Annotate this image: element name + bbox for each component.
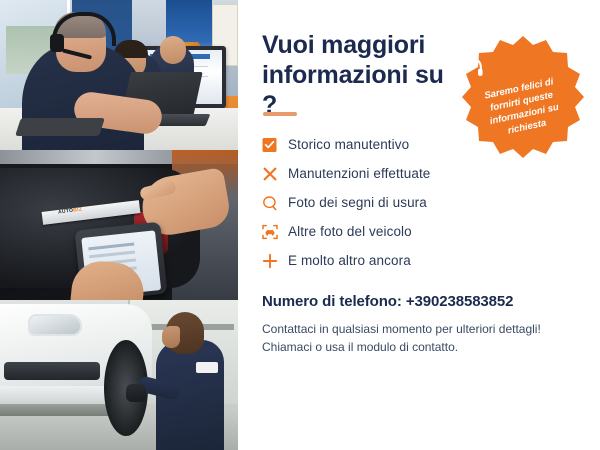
photo-mechanic-inspecting-white-car-wheel	[0, 300, 238, 450]
photo3-mechanic-face	[162, 326, 180, 348]
feature-item-manutenzioni-effettuate: Manutenzioni effettuate	[262, 159, 582, 188]
feature-label: Storico manutentivo	[288, 137, 409, 152]
title-divider	[263, 112, 297, 116]
contact-line-2: Chiamaci o usa il modulo di contatto.	[262, 338, 572, 356]
contact-instructions: Contattaci in qualsiasi momento per ulte…	[262, 320, 572, 356]
photo1-desk-mat	[15, 118, 105, 136]
feature-list: Storico manutentivo Manutenzioni effettu…	[262, 130, 582, 275]
feature-item-foto-segni-usura: Foto dei segni di usura	[262, 188, 582, 217]
feature-label: Manutenzioni effettuate	[288, 166, 430, 181]
content-panel: Vuoi maggiori informazioni su ? Saremo f…	[238, 0, 600, 450]
phone-number[interactable]: Numero di telefono: +390238583852	[262, 293, 513, 310]
feature-label: Foto dei segni di usura	[288, 195, 427, 210]
feature-item-altre-foto-veicolo: Altre foto del veicolo	[262, 217, 582, 246]
photo3-glove	[126, 384, 146, 402]
photo3-bumper	[0, 386, 120, 404]
photo-call-center-operator-headset	[0, 0, 238, 150]
contact-line-1: Contattaci in qualsiasi momento per ulte…	[262, 320, 572, 338]
feature-item-molto-altro-ancora: E molto altro ancora	[262, 246, 582, 275]
feature-label: Altre foto del veicolo	[288, 224, 412, 239]
photo3-headlight	[28, 314, 82, 336]
photo1-colleague-far-head	[160, 36, 186, 64]
photo3-grille	[4, 362, 100, 380]
photo3-shirt-badge	[196, 362, 218, 373]
feature-label: E molto altro ancora	[288, 253, 411, 268]
photo-column: AUTOBIZ	[0, 0, 238, 450]
feature-item-storico-manutentivo: Storico manutentivo	[262, 130, 582, 159]
search-bubble-icon	[262, 195, 288, 211]
car-focus-frame-icon	[262, 224, 288, 240]
promo-banner: AUTOBIZ	[0, 0, 600, 450]
clipboard-check-icon	[262, 137, 288, 153]
tools-cross-icon	[262, 166, 288, 182]
page-title: Vuoi maggiori informazioni su ?	[262, 30, 462, 120]
plus-icon	[262, 253, 288, 269]
photo-mechanic-inspecting-dark-car-tablet: AUTOBIZ	[0, 150, 238, 300]
